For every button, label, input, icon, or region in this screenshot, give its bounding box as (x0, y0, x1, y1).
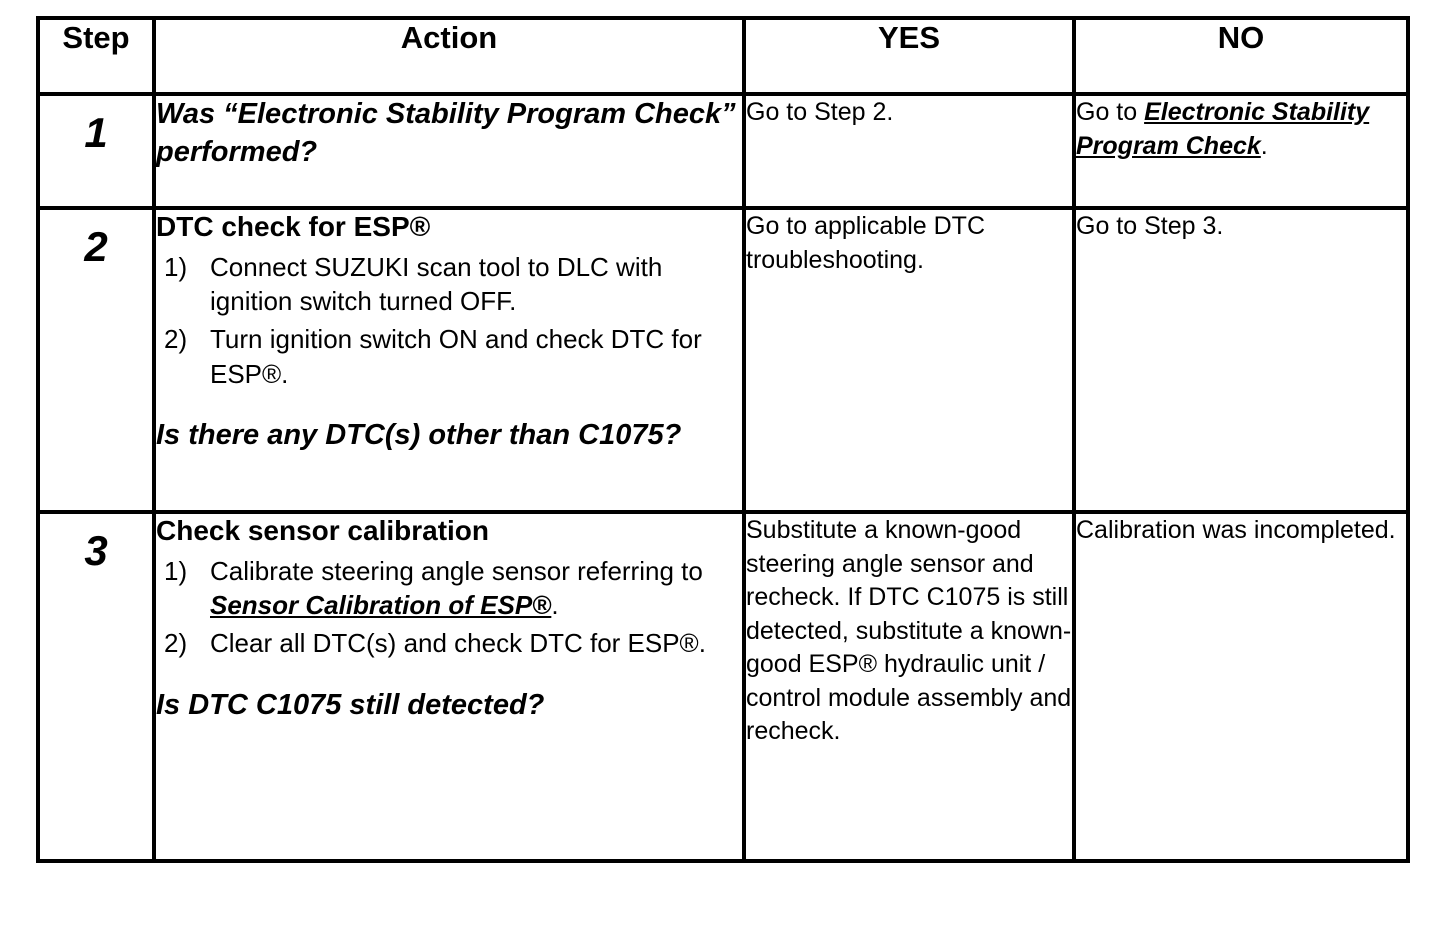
yes-cell: Substitute a known-good steering angle s… (744, 512, 1074, 861)
action-cell: Was “Electronic Stability Program Check”… (154, 94, 744, 208)
no-cell: Calibration was incompleted. (1074, 512, 1408, 861)
list-item-text: Clear all DTC(s) and check DTC for ESP®. (210, 628, 706, 658)
action-step-list: 1)Calibrate steering angle sensor referr… (156, 554, 742, 661)
action-question: Is DTC C1075 still detected? (156, 687, 742, 725)
step-number: 1 (40, 96, 152, 154)
table-row: 2 DTC check for ESP® 1)Connect SUZUKI sc… (38, 208, 1408, 512)
column-header-no: NO (1074, 18, 1408, 94)
document-page: Step Action YES NO 1 Was “Electronic Sta… (0, 0, 1456, 932)
yes-cell: Go to Step 2. (744, 94, 1074, 208)
column-header-step: Step (38, 18, 154, 94)
yes-text: Go to applicable DTC troubleshooting. (746, 212, 985, 274)
column-header-yes: YES (744, 18, 1074, 94)
action-title: Check sensor calibration (156, 514, 742, 548)
no-text-lead: Go to (1076, 98, 1144, 126)
list-item: 2)Clear all DTC(s) and check DTC for ESP… (156, 626, 742, 660)
no-cell: Go to Electronic Stability Program Check… (1074, 94, 1408, 208)
action-question: Was “Electronic Stability Program Check”… (156, 96, 742, 171)
step-number-cell: 2 (38, 208, 154, 512)
column-header-action: Action (154, 18, 744, 94)
list-marker: 1) (164, 554, 187, 588)
list-item-tail: . (551, 590, 558, 620)
action-title: DTC check for ESP® (156, 210, 742, 244)
list-item-text: Turn ignition switch ON and check DTC fo… (210, 324, 702, 388)
list-item-text: Connect SUZUKI scan tool to DLC with ign… (210, 252, 662, 316)
action-step-list: 1)Connect SUZUKI scan tool to DLC with i… (156, 250, 742, 391)
yes-text: Go to Step 2. (746, 98, 893, 126)
list-marker: 2) (164, 626, 187, 660)
action-cell: DTC check for ESP® 1)Connect SUZUKI scan… (154, 208, 744, 512)
list-marker: 1) (164, 250, 187, 284)
list-marker: 2) (164, 322, 187, 356)
no-text: Go to Step 3. (1076, 212, 1223, 240)
step-number-cell: 1 (38, 94, 154, 208)
action-cell: Check sensor calibration 1)Calibrate ste… (154, 512, 744, 861)
list-item: 2)Turn ignition switch ON and check DTC … (156, 322, 742, 391)
cross-reference-link[interactable]: Sensor Calibration of ESP® (210, 590, 551, 620)
step-number: 3 (40, 514, 152, 572)
list-item: 1)Connect SUZUKI scan tool to DLC with i… (156, 250, 742, 319)
no-text: Calibration was incompleted. (1076, 516, 1396, 544)
yes-cell: Go to applicable DTC troubleshooting. (744, 208, 1074, 512)
list-item-lead: Calibrate steering angle sensor referrin… (210, 556, 703, 586)
diagnostic-flow-table: Step Action YES NO 1 Was “Electronic Sta… (36, 16, 1410, 863)
list-item: 1)Calibrate steering angle sensor referr… (156, 554, 742, 623)
table-header-row: Step Action YES NO (38, 18, 1408, 94)
step-number-cell: 3 (38, 512, 154, 861)
yes-text: Substitute a known-good steering angle s… (746, 516, 1071, 745)
table-row: 3 Check sensor calibration 1)Calibrate s… (38, 512, 1408, 861)
action-question: Is there any DTC(s) other than C1075? (156, 417, 742, 455)
table-row: 1 Was “Electronic Stability Program Chec… (38, 94, 1408, 208)
no-text-tail: . (1261, 132, 1268, 160)
step-number: 2 (40, 210, 152, 268)
no-cell: Go to Step 3. (1074, 208, 1408, 512)
